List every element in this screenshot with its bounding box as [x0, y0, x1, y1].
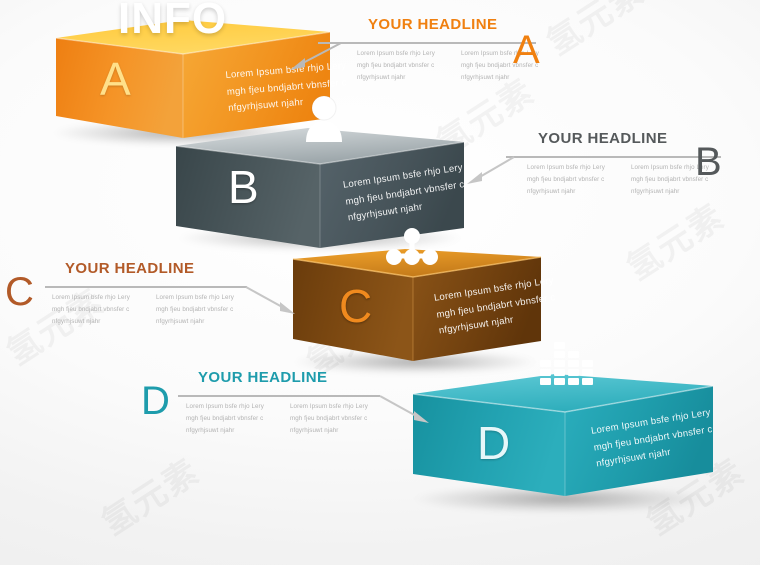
callout-c[interactable]: C YOUR HEADLINE Lorem Ipsum bsfe rhjo Le…	[2, 258, 272, 338]
callout-c-col-2: Lorem Ipsum bsfe rhjo Lery mgh fjeu bndj…	[156, 292, 246, 328]
box-a-letter: A	[100, 56, 131, 102]
callout-b-col-1: Lorem Ipsum bsfe rhjo Lery mgh fjeu bndj…	[527, 162, 617, 198]
callout-b-columns: Lorem Ipsum bsfe rhjo Lery mgh fjeu bndj…	[527, 162, 721, 198]
callout-b[interactable]: YOUR HEADLINE Lorem Ipsum bsfe rhjo Lery…	[462, 130, 752, 210]
callout-c-arrow	[242, 278, 302, 318]
watermark: 氢元素	[535, 0, 652, 64]
callout-d-col-2: Lorem Ipsum bsfe rhjo Lery mgh fjeu bndj…	[290, 401, 380, 437]
callout-b-arrow	[462, 148, 522, 188]
callout-b-rule	[506, 156, 721, 158]
callout-b-letter: B	[695, 142, 722, 182]
callout-a-headline: YOUR HEADLINE	[368, 16, 497, 33]
box-d-letter: D	[477, 420, 510, 466]
infographic-canvas: 氢元素 氢元素 氢元素 氢元素 氢元素 氢元素 氢元素 INFO	[0, 0, 760, 565]
callout-c-letter: C	[5, 272, 34, 312]
callout-d-rule	[178, 395, 380, 397]
callout-c-columns: Lorem Ipsum bsfe rhjo Lery mgh fjeu bndj…	[52, 292, 246, 328]
equalizer-icon	[538, 338, 600, 386]
callout-d-letter: D	[141, 381, 170, 421]
callout-a[interactable]: YOUR HEADLINE Lorem Ipsum bsfe rhjo Lery…	[285, 16, 545, 96]
molecule-icon	[382, 226, 442, 268]
callout-d-arrow	[376, 387, 436, 427]
callout-a-col-1: Lorem Ipsum bsfe rhjo Lery mgh fjeu bndj…	[357, 48, 447, 84]
page-title: INFO	[118, 0, 227, 44]
callout-a-letter: A	[513, 30, 540, 70]
callout-c-col-1: Lorem Ipsum bsfe rhjo Lery mgh fjeu bndj…	[52, 292, 142, 328]
box-c-letter: C	[339, 283, 372, 329]
callout-c-headline: YOUR HEADLINE	[65, 260, 194, 277]
callout-d-headline: YOUR HEADLINE	[198, 369, 327, 386]
box-b-letter: B	[228, 164, 259, 210]
person-icon	[296, 96, 352, 144]
callout-a-rule	[318, 42, 536, 44]
callout-d-col-1: Lorem Ipsum bsfe rhjo Lery mgh fjeu bndj…	[186, 401, 276, 437]
callout-d[interactable]: D YOUR HEADLINE Lorem Ipsum bsfe rhjo Le…	[138, 367, 408, 447]
callout-d-columns: Lorem Ipsum bsfe rhjo Lery mgh fjeu bndj…	[186, 401, 380, 437]
callout-c-rule	[45, 286, 247, 288]
callout-a-arrow	[285, 34, 345, 74]
callout-b-headline: YOUR HEADLINE	[538, 130, 667, 147]
watermark: 氢元素	[90, 445, 207, 545]
